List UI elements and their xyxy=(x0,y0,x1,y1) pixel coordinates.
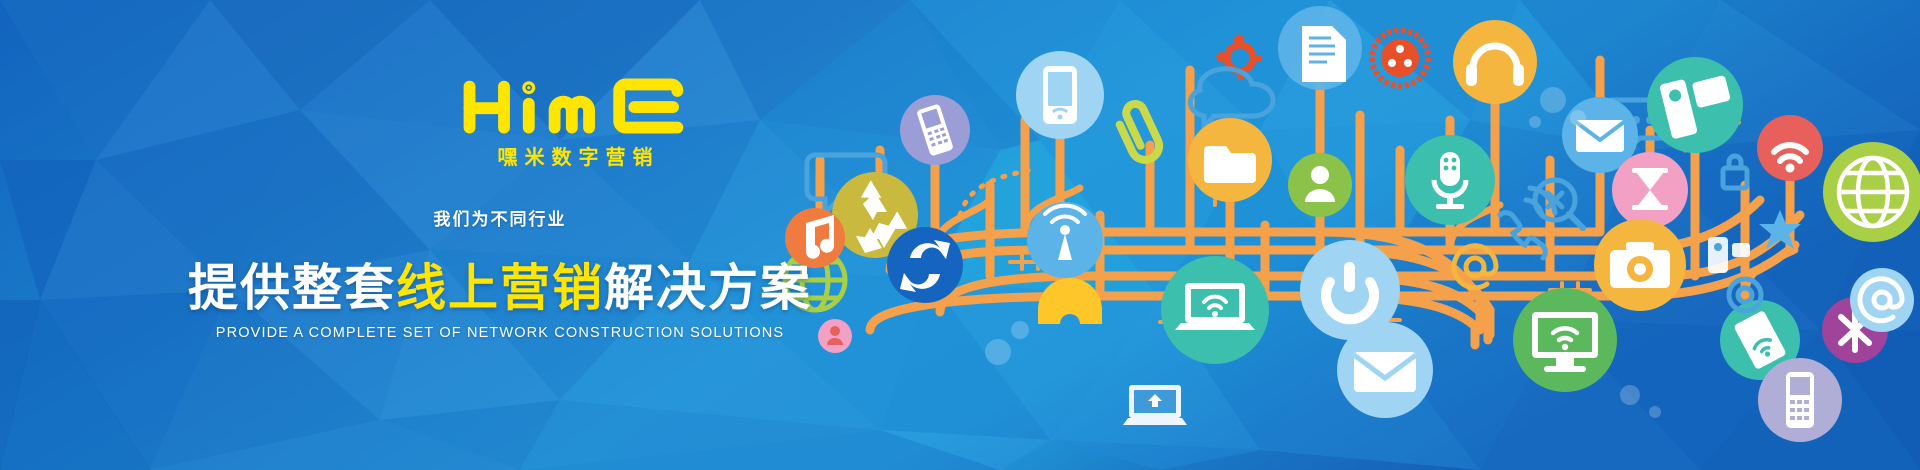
smartphone-wifi-icon xyxy=(1016,51,1104,139)
broadcast-tower-icon xyxy=(1027,202,1103,278)
headphones-icon xyxy=(1453,20,1537,104)
film-reel-icon xyxy=(1372,30,1428,86)
wifi-icon xyxy=(1757,115,1823,181)
camera-icon xyxy=(1594,219,1686,311)
document-icon xyxy=(1278,6,1362,90)
headline-highlight: 线上营销 xyxy=(396,260,604,316)
at-circle-icon xyxy=(1850,268,1914,332)
base-node-button[interactable] xyxy=(1038,278,1102,324)
hourglass-icon xyxy=(1612,152,1688,228)
hero-headline: 提供整套线上营销解决方案 xyxy=(0,248,1000,320)
marketing-banner: 嘿米数字营销 我们为不同行业 提供整套线上营销解决方案 PROVIDE A CO… xyxy=(0,0,1920,470)
mobile-wifi-icon xyxy=(1758,358,1842,442)
brand-subtitle: 嘿米数字营销 xyxy=(455,141,695,170)
user-icon xyxy=(1288,153,1352,217)
paperclip-icon xyxy=(1114,101,1163,164)
hero-subtitle-english: PROVIDE A COMPLETE SET OF NETWORK CONSTR… xyxy=(0,325,1000,341)
headline-part-1: 提供整套 xyxy=(188,260,396,316)
hime-wordmark-icon xyxy=(462,78,688,134)
folder-icon xyxy=(1188,118,1272,202)
tablet-icon xyxy=(1647,57,1743,153)
computer-upload-icon xyxy=(1123,385,1187,425)
headline-part-2: 解决方案 xyxy=(604,260,812,316)
monitor-wifi-icon xyxy=(1513,288,1617,392)
microphone-icon xyxy=(1405,135,1495,225)
hero-tagline: 我们为不同行业 xyxy=(0,205,1000,230)
search-close-icon xyxy=(1535,180,1583,228)
hero-text-block: 嘿米数字营销 我们为不同行业 提供整套线上营销解决方案 PROVIDE A CO… xyxy=(0,0,1000,470)
brand-logo: 嘿米数字营销 xyxy=(455,78,695,170)
laptop-wifi-icon xyxy=(1161,256,1269,364)
globe-grid-icon xyxy=(1823,142,1920,242)
mail-envelope-icon xyxy=(1337,322,1433,418)
